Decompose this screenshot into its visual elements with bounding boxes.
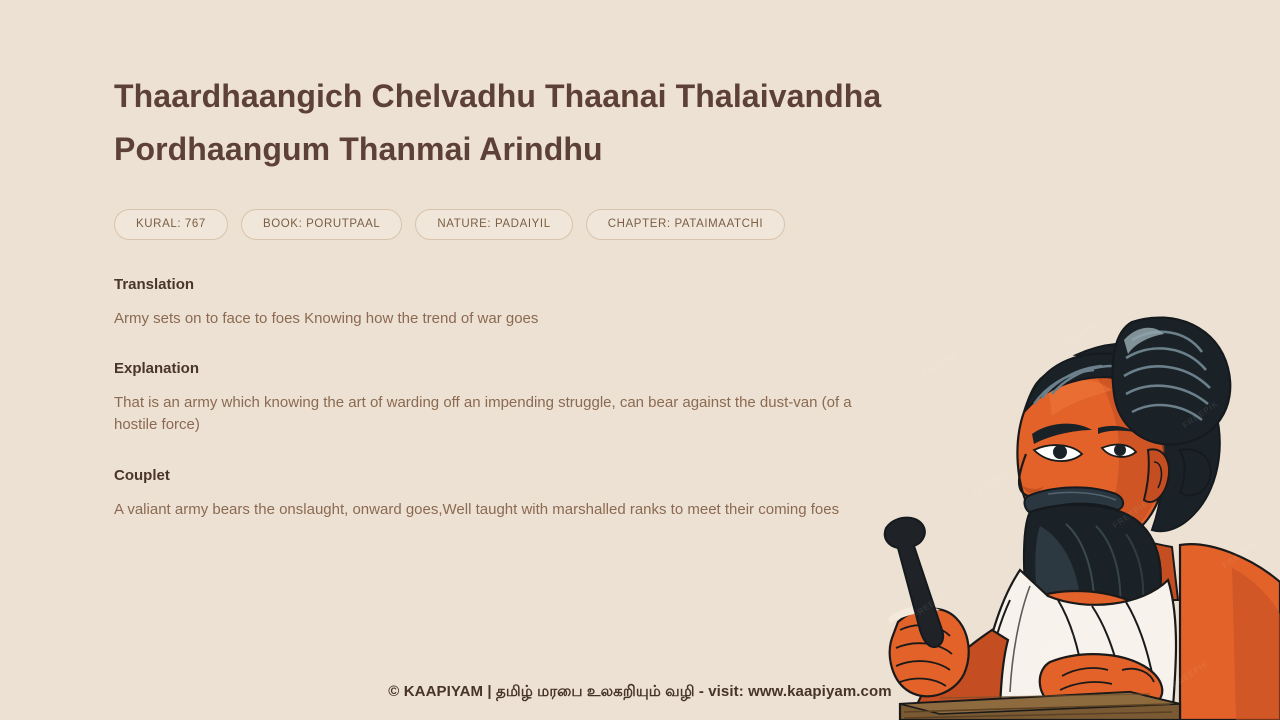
page-title: Thaardhaangich Chelvadhu Thaanai Thalaiv…: [114, 70, 904, 176]
watermark-text: FREEPIK: [1221, 539, 1260, 570]
kural-content: Thaardhaangich Chelvadhu Thaanai Thalaiv…: [114, 70, 904, 521]
kural-card-page: FREEPIK FREEPIK FREEPIK FREEPIK FREEPIK …: [0, 0, 1280, 720]
badge-kural-number[interactable]: KURAL: 767: [114, 209, 228, 241]
watermark-text: FREEPIK: [1041, 629, 1080, 660]
section-body-translation: Army sets on to face to foes Knowing how…: [114, 308, 859, 330]
section-body-couplet: A valiant army bears the onslaught, onwa…: [114, 499, 859, 521]
watermark-text: FREEPIK: [1181, 399, 1220, 430]
footer-credit: © KAAPIYAM | தமிழ் மரபை உலகறியும் வழி - …: [0, 683, 1280, 702]
metadata-badge-row: KURAL: 767 BOOK: PORUTPAAL NATURE: PADAI…: [114, 209, 904, 241]
section-heading-couplet: Couplet: [114, 467, 904, 485]
watermark-text: FREEPIK: [911, 589, 950, 620]
watermark-text: FREEPIK: [921, 349, 960, 380]
watermark-text: FREEPIK: [1061, 319, 1100, 350]
section-body-explanation: That is an army which knowing the art of…: [114, 392, 859, 436]
watermark-text: FREEPIK: [1111, 499, 1150, 530]
freepik-watermark-layer: FREEPIK FREEPIK FREEPIK FREEPIK FREEPIK …: [880, 300, 1280, 720]
badge-nature[interactable]: NATURE: PADAIYIL: [415, 209, 572, 241]
badge-chapter[interactable]: CHAPTER: PATAIMAATCHI: [586, 209, 786, 241]
section-couplet: Couplet A valiant army bears the onslaug…: [114, 467, 904, 521]
badge-book[interactable]: BOOK: PORUTPAAL: [241, 209, 402, 241]
section-translation: Translation Army sets on to face to foes…: [114, 276, 904, 330]
thiruvalluvar-illustration: [880, 300, 1280, 720]
section-heading-translation: Translation: [114, 276, 904, 294]
section-heading-explanation: Explanation: [114, 360, 904, 378]
section-explanation: Explanation That is an army which knowin…: [114, 360, 904, 436]
watermark-text: FREEPIK: [971, 469, 1010, 500]
